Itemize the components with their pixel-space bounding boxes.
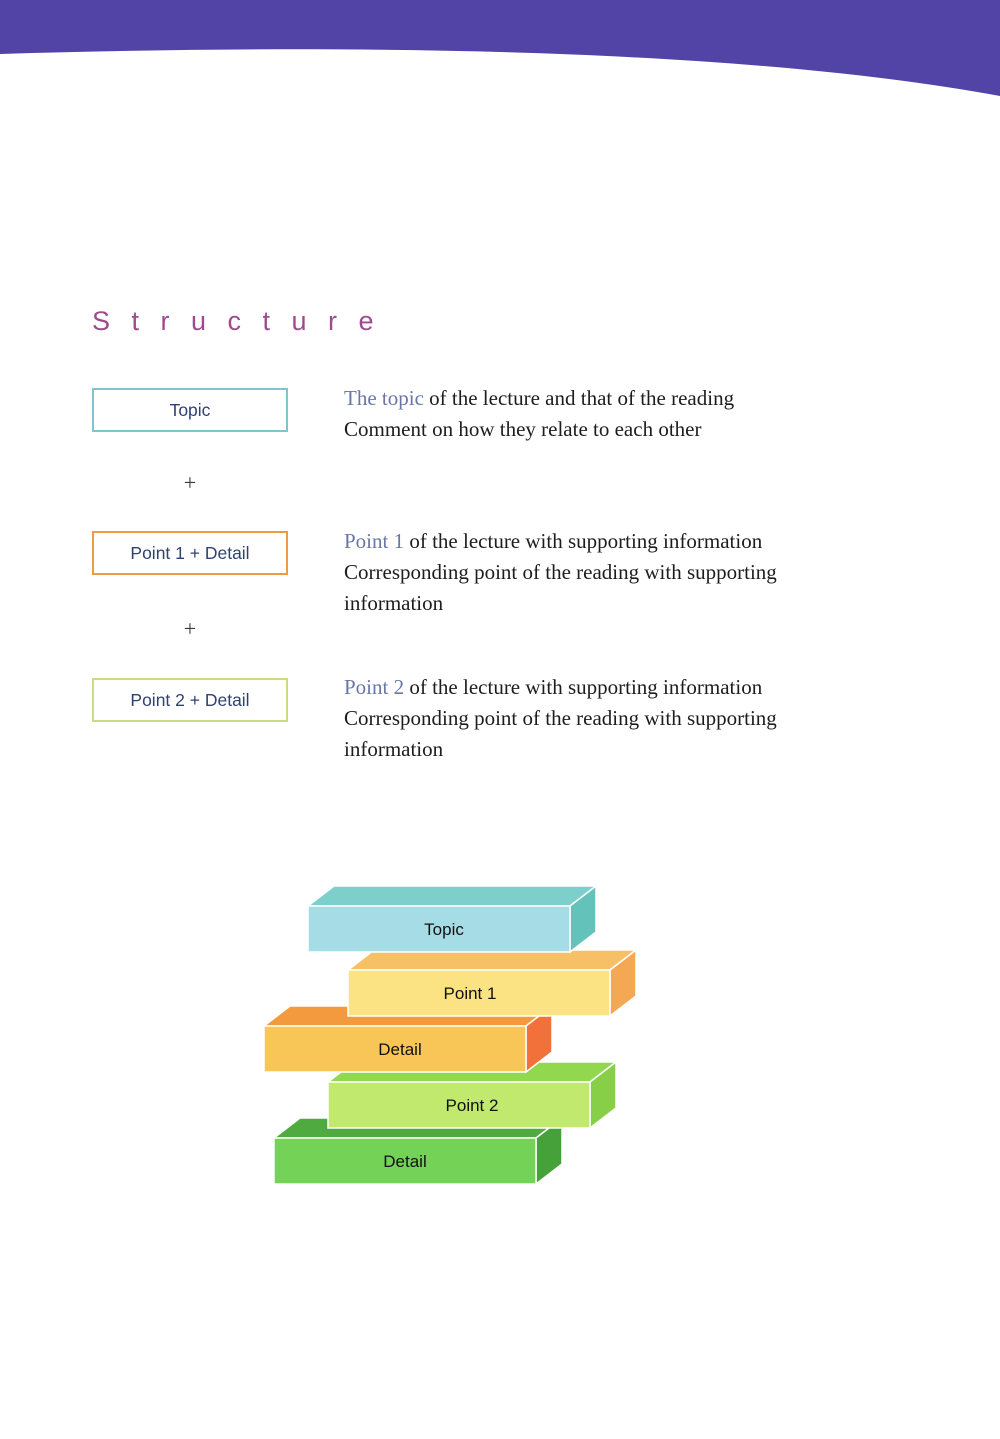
block-detail-green-label: Detail <box>383 1152 426 1171</box>
connector-plus-2-label: + <box>184 616 196 641</box>
description-topic-lead: The topic <box>344 386 424 410</box>
block-point1: Point 1 <box>348 950 636 1016</box>
description-point1-line2: Corresponding point of the reading with … <box>344 557 864 588</box>
outline-box-point1[interactable]: Point 1 + Detail <box>92 531 288 575</box>
outline-box-point2[interactable]: Point 2 + Detail <box>92 678 288 722</box>
page-title: S t r u c t u r e <box>92 306 381 337</box>
description-point2-rest: of the lecture with supporting informati… <box>404 675 762 699</box>
description-point1-lead: Point 1 <box>344 529 404 553</box>
block-point2-label: Point 2 <box>446 1096 499 1115</box>
description-point2-line1: Point 2 of the lecture with supporting i… <box>344 672 864 703</box>
connector-plus-1: + <box>92 472 288 494</box>
block-point1-top <box>348 950 636 970</box>
description-point1-line3: information <box>344 588 864 619</box>
connector-plus-2: + <box>92 618 288 640</box>
description-point1-line1: Point 1 of the lecture with supporting i… <box>344 526 864 557</box>
header-banner <box>0 0 1000 110</box>
description-topic-line1: The topic of the lecture and that of the… <box>344 383 864 414</box>
description-point1-rest: of the lecture with supporting informati… <box>404 529 762 553</box>
description-point2-line2: Corresponding point of the reading with … <box>344 703 864 734</box>
description-point1: Point 1 of the lecture with supporting i… <box>344 526 864 619</box>
outline-box-point1-label: Point 1 + Detail <box>130 543 249 564</box>
block-point1-label: Point 1 <box>444 984 497 1003</box>
block-detail-orange-label: Detail <box>378 1040 421 1059</box>
description-point2-lead: Point 2 <box>344 675 404 699</box>
block-topic-label: Topic <box>424 920 464 939</box>
description-point2: Point 2 of the lecture with supporting i… <box>344 672 864 765</box>
description-topic: The topic of the lecture and that of the… <box>344 383 864 445</box>
outline-box-point2-label: Point 2 + Detail <box>130 690 249 711</box>
description-topic-line2: Comment on how they relate to each other <box>344 414 864 445</box>
description-topic-rest: of the lecture and that of the reading <box>424 386 734 410</box>
stacked-blocks-diagram: Detail Point 2 Detail Point 1 <box>262 876 642 1188</box>
connector-plus-1-label: + <box>184 470 196 495</box>
block-topic: Topic <box>308 886 596 952</box>
header-banner-shape <box>0 0 1000 110</box>
outline-box-topic-label: Topic <box>170 400 211 421</box>
banner-fill <box>0 0 1000 96</box>
outline-box-topic[interactable]: Topic <box>92 388 288 432</box>
block-topic-top <box>308 886 596 906</box>
stacked-blocks-svg: Detail Point 2 Detail Point 1 <box>262 876 642 1188</box>
description-point2-line3: information <box>344 734 864 765</box>
